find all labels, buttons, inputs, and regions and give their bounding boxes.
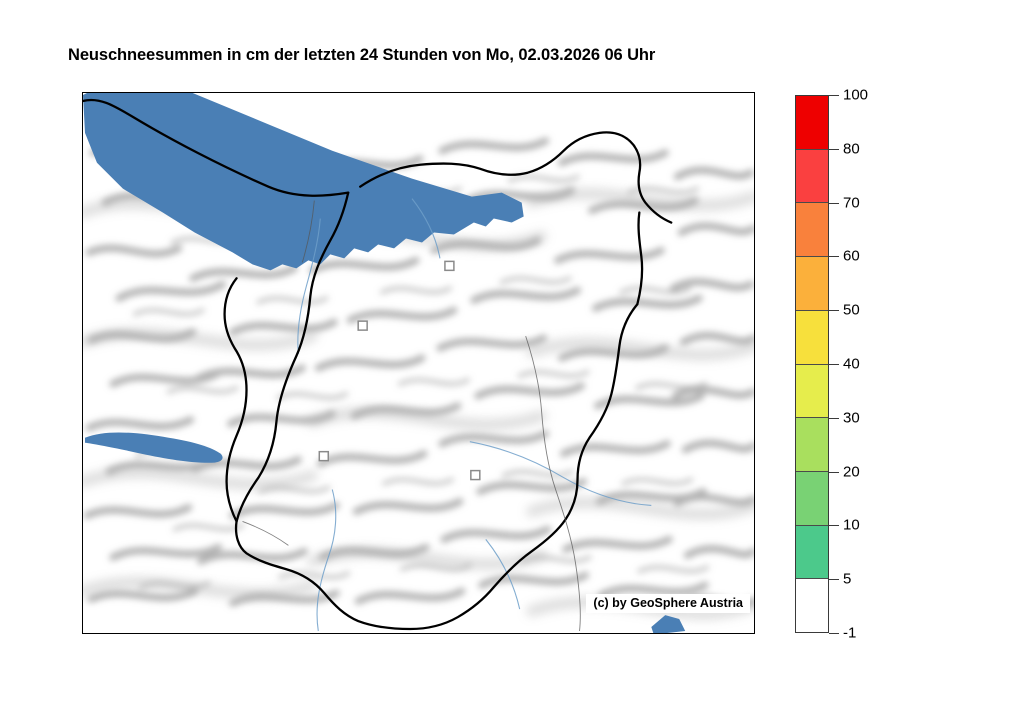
colorbar-band-30-40	[796, 365, 828, 419]
colorbar-label-40: 40	[843, 356, 860, 373]
colorbar-legend: 100 80 70 60 50 40 30 20 10 5 -1	[795, 95, 829, 633]
colorbar-label-20: 20	[843, 463, 860, 480]
colorbar-tick-100	[829, 95, 839, 96]
colorbar-band-60-70	[796, 203, 828, 257]
colorbar-tick-30	[829, 418, 839, 419]
map-panel[interactable]: (c) by GeoSphere Austria	[82, 92, 755, 634]
station-marker-1[interactable]	[445, 261, 454, 270]
colorbar-tick-10	[829, 525, 839, 526]
copyright-label: (c) by GeoSphere Austria	[586, 594, 750, 613]
colorbar-label-30: 30	[843, 409, 860, 426]
map-canvas[interactable]	[83, 93, 754, 633]
colorbar-tick-60	[829, 256, 839, 257]
colorbar-tick-80	[829, 149, 839, 150]
station-marker-2[interactable]	[358, 321, 367, 330]
station-marker-4[interactable]	[471, 471, 480, 480]
colorbar-band-70-80	[796, 150, 828, 204]
colorbar-band-50-60	[796, 257, 828, 311]
colorbar-label-60: 60	[843, 248, 860, 265]
colorbar-label-5: 5	[843, 571, 851, 588]
station-marker-3[interactable]	[319, 452, 328, 461]
colorbar-band-40-50	[796, 311, 828, 365]
colorbar-label-10: 10	[843, 517, 860, 534]
page-title: Neuschneesummen in cm der letzten 24 Stu…	[68, 46, 655, 65]
colorbar-tick-50	[829, 310, 839, 311]
colorbar-band-minus1-5	[796, 579, 828, 632]
colorbar-label-70: 70	[843, 194, 860, 211]
colorbar-band-10-20	[796, 472, 828, 526]
colorbar-band-5-10	[796, 526, 828, 580]
colorbar-label-80: 80	[843, 140, 860, 157]
colorbar-gradient	[795, 95, 829, 633]
colorbar-tick-70	[829, 203, 839, 204]
colorbar-tick-20	[829, 472, 839, 473]
colorbar-label-minus1: -1	[843, 625, 856, 642]
colorbar-label-100: 100	[843, 87, 868, 104]
colorbar-band-20-30	[796, 418, 828, 472]
colorbar-tick-40	[829, 364, 839, 365]
colorbar-band-80-100	[796, 96, 828, 150]
colorbar-label-50: 50	[843, 302, 860, 319]
colorbar-tick-minus1	[829, 633, 839, 634]
colorbar-tick-5	[829, 579, 839, 580]
